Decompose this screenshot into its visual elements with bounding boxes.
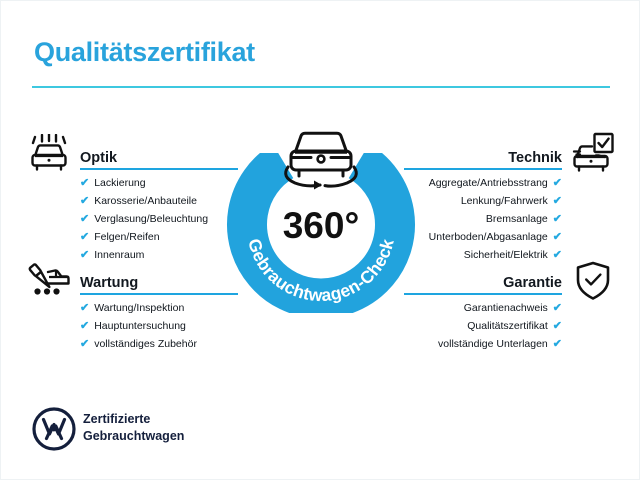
list-item: Unterboden/Abgasanlage ✔ (404, 232, 562, 243)
check-icon: ✔ (553, 321, 562, 332)
wrench-car-icon (25, 260, 73, 305)
list-item-label: Hauptuntersuchung (94, 321, 186, 332)
check-icon: ✔ (80, 232, 89, 243)
check-icon: ✔ (80, 321, 89, 332)
section-wartung-divider (80, 293, 238, 295)
section-garantie-list: Garantienachweis ✔ Qualitätszertifikat ✔… (404, 303, 562, 350)
section-optik: Optik ✔ Lackierung ✔ Karosserie/Anbautei… (80, 144, 238, 268)
section-technik-divider (404, 168, 562, 170)
section-optik-title: Optik (80, 150, 117, 166)
badge-center-label: 360° (283, 205, 360, 246)
check-icon: ✔ (553, 196, 562, 207)
check-icon: ✔ (80, 196, 89, 207)
section-optik-list: ✔ Lackierung ✔ Karosserie/Anbauteile ✔ V… (80, 178, 238, 261)
check-icon: ✔ (553, 250, 562, 261)
list-item-label: vollständige Unterlagen (438, 339, 548, 350)
section-optik-header: Optik (80, 144, 238, 170)
section-garantie-divider (404, 293, 562, 295)
list-item: ✔ vollständiges Zubehör (80, 339, 238, 350)
check-icon: ✔ (80, 214, 89, 225)
list-item: Garantienachweis ✔ (404, 303, 562, 314)
section-garantie-header: Garantie (404, 269, 562, 295)
list-item: ✔ Lackierung (80, 178, 238, 189)
check-icon: ✔ (553, 214, 562, 225)
list-item: vollständige Unterlagen ✔ (404, 339, 562, 350)
page-title: Qualitätszertifikat (34, 37, 255, 68)
list-item: ✔ Felgen/Reifen (80, 232, 238, 243)
list-item: ✔ Hauptuntersuchung (80, 321, 238, 332)
list-item: ✔ Wartung/Inspektion (80, 303, 238, 314)
list-item: Lenkung/Fahrwerk ✔ (404, 196, 562, 207)
check-icon: ✔ (553, 303, 562, 314)
certificate-page: Qualitätszertifikat Optik ✔ (0, 0, 640, 480)
car-rotate-icon (273, 119, 369, 191)
list-item-label: Felgen/Reifen (94, 232, 159, 243)
title-divider (32, 86, 610, 88)
list-item-label: Lenkung/Fahrwerk (461, 196, 548, 207)
section-technik-list: Aggregate/Antriebsstrang ✔ Lenkung/Fahrw… (404, 178, 562, 261)
section-technik-title: Technik (508, 150, 562, 166)
section-optik-divider (80, 168, 238, 170)
list-item-label: Karosserie/Anbauteile (94, 196, 197, 207)
list-item: ✔ Innenraum (80, 250, 238, 261)
list-item: Bremsanlage ✔ (404, 214, 562, 225)
list-item-label: Unterboden/Abgasanlage (429, 232, 548, 243)
section-wartung-header: Wartung (80, 269, 238, 295)
list-item-label: vollständiges Zubehör (94, 339, 197, 350)
list-item-label: Garantienachweis (464, 303, 548, 314)
section-wartung: Wartung ✔ Wartung/Inspektion ✔ Hauptunte… (80, 269, 238, 357)
car-checkbox-icon (569, 132, 617, 179)
check-icon: ✔ (80, 250, 89, 261)
list-item: Sicherheit/Elektrik ✔ (404, 250, 562, 261)
section-garantie: Garantie Garantienachweis ✔ Qualitätszer… (404, 269, 562, 357)
check-icon: ✔ (553, 178, 562, 189)
footer-line-1: Zertifizierte (83, 411, 184, 428)
check-icon: ✔ (553, 232, 562, 243)
car-shine-icon (25, 134, 73, 179)
list-item: Qualitätszertifikat ✔ (404, 321, 562, 332)
section-technik-header: Technik (404, 144, 562, 170)
list-item-label: Wartung/Inspektion (94, 303, 184, 314)
list-item: ✔ Karosserie/Anbauteile (80, 196, 238, 207)
vw-logo (32, 407, 76, 451)
check-icon: ✔ (553, 339, 562, 350)
section-technik: Technik Aggregate/Antriebsstrang ✔ Lenku… (404, 144, 562, 268)
list-item-label: Innenraum (94, 250, 144, 261)
list-item-label: Bremsanlage (486, 214, 548, 225)
section-garantie-title: Garantie (503, 275, 562, 291)
list-item: Aggregate/Antriebsstrang ✔ (404, 178, 562, 189)
list-item-label: Sicherheit/Elektrik (464, 250, 548, 261)
footer-brand-text: Zertifizierte Gebrauchtwagen (83, 411, 184, 445)
list-item-label: Verglasung/Beleuchtung (94, 214, 208, 225)
shield-check-icon (573, 260, 613, 307)
list-item-label: Qualitätszertifikat (467, 321, 548, 332)
check-icon: ✔ (80, 178, 89, 189)
list-item: ✔ Verglasung/Beleuchtung (80, 214, 238, 225)
check-icon: ✔ (80, 303, 89, 314)
footer-line-2: Gebrauchtwagen (83, 428, 184, 445)
section-wartung-title: Wartung (80, 275, 138, 291)
list-item-label: Aggregate/Antriebsstrang (429, 178, 548, 189)
list-item-label: Lackierung (94, 178, 145, 189)
check-icon: ✔ (80, 339, 89, 350)
section-wartung-list: ✔ Wartung/Inspektion ✔ Hauptuntersuchung… (80, 303, 238, 350)
